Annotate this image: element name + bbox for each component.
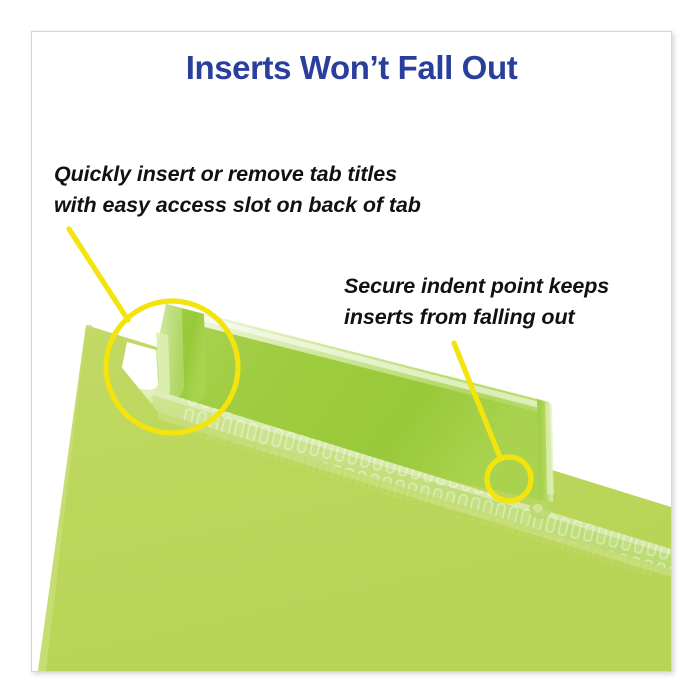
callout-text-indent-point: Secure indent point keeps inserts from f…: [344, 271, 609, 332]
callout-marker-indent-point: [454, 343, 531, 501]
screenshot-root: Inserts Won’t Fall Out Quickly insert or…: [0, 0, 700, 700]
leader-line-left: [69, 229, 128, 320]
highlight-circle-left: [106, 301, 238, 433]
callout-markers-layer: [32, 32, 671, 671]
callout-text-access-slot: Quickly insert or remove tab titles with…: [54, 159, 421, 220]
leader-line-right: [454, 343, 500, 457]
highlight-circle-right: [487, 457, 531, 501]
product-feature-card: Inserts Won’t Fall Out Quickly insert or…: [31, 31, 672, 672]
callout-marker-access-slot: [69, 229, 238, 433]
